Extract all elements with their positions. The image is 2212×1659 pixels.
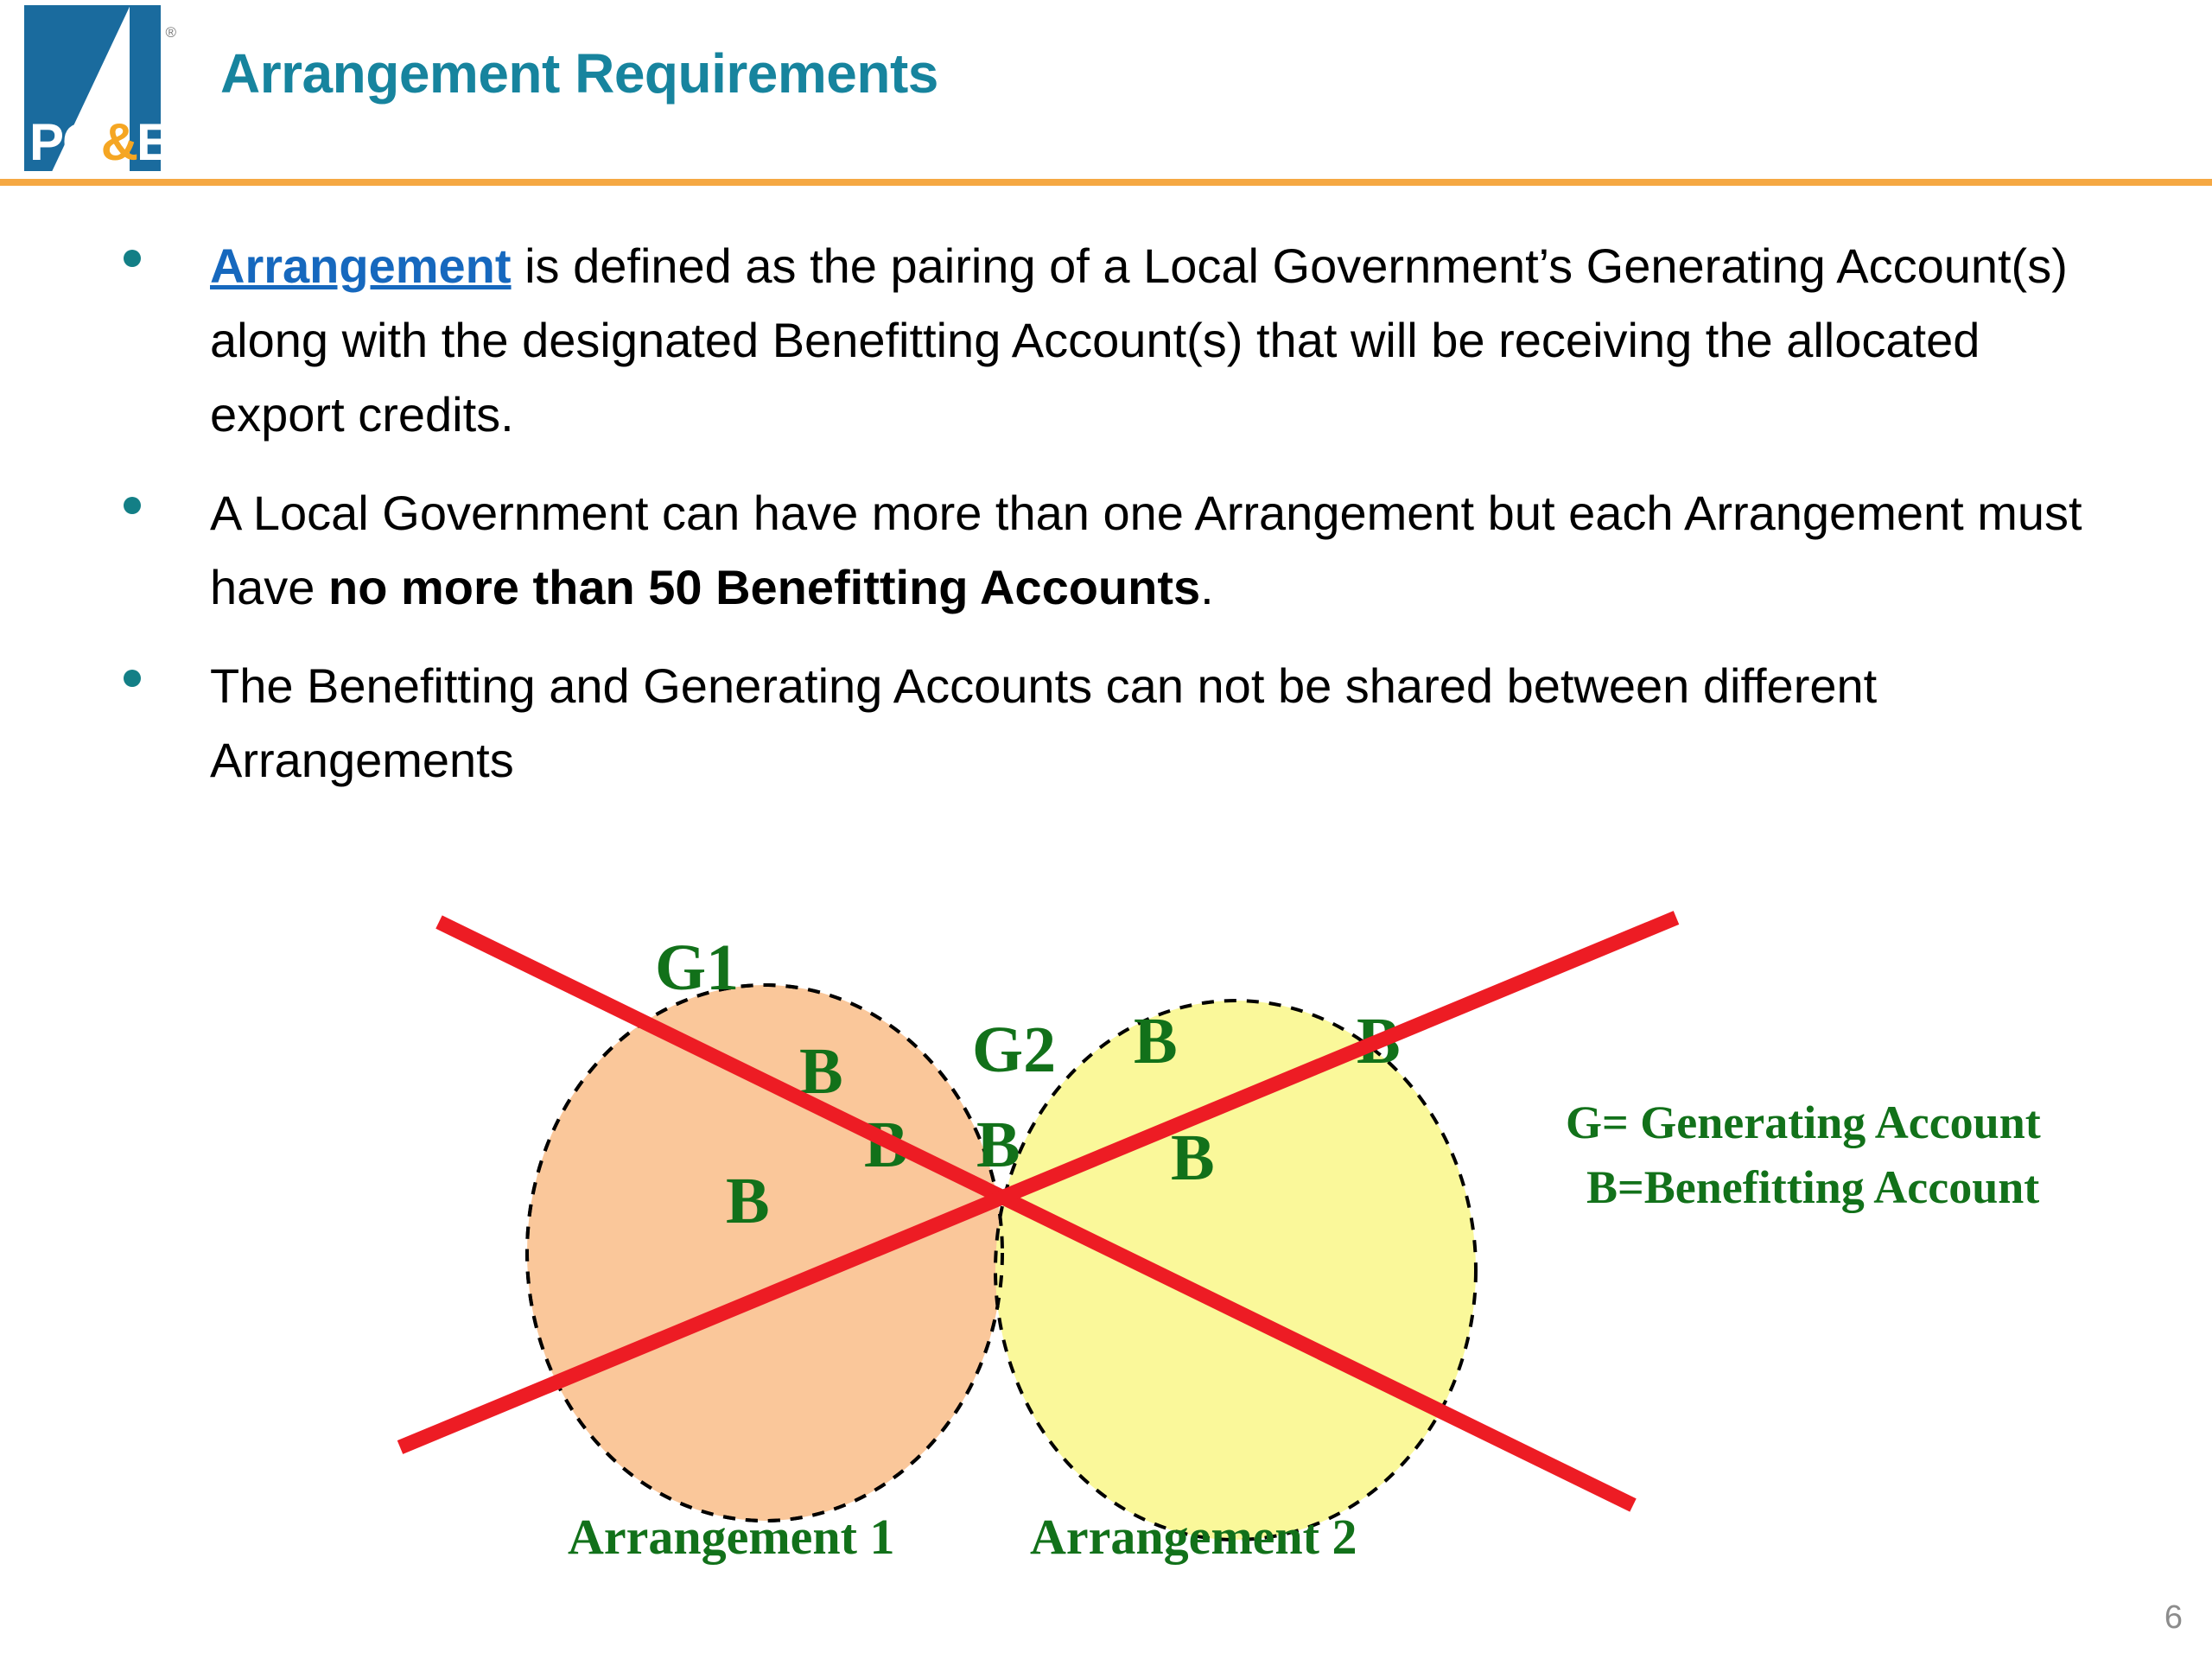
- bullet-dot-icon: [124, 670, 141, 687]
- bullet-2-post: .: [1200, 560, 1214, 614]
- bullet-dot-icon: [124, 497, 141, 514]
- bullet-3-text: The Benefitting and Generating Accounts …: [210, 649, 2108, 798]
- bullet-list: Arrangement is defined as the pairing of…: [0, 229, 2212, 822]
- list-item: The Benefitting and Generating Accounts …: [0, 649, 2212, 798]
- venn-node-g1: G1: [655, 931, 739, 1004]
- arrangement-2-label: Arrangement 2: [1030, 1508, 1357, 1566]
- bullet-2-emphasis: no more than 50 Benefitting Accounts: [328, 560, 1200, 614]
- page-number: 6: [2164, 1599, 2183, 1637]
- logo-ampersand: &: [101, 113, 137, 171]
- venn-node-b-a2-1: B: [1134, 1005, 1178, 1077]
- bullet-dot-icon: [124, 250, 141, 267]
- legend-generating: G= Generating Account: [1566, 1096, 2041, 1149]
- venn-node-b-a1-3: B: [726, 1165, 770, 1237]
- arrangement-1-label: Arrangement 1: [568, 1508, 895, 1566]
- header-divider: [0, 179, 2212, 186]
- arrangement-link[interactable]: Arrangement: [210, 238, 512, 293]
- registered-trademark-icon: ®: [165, 24, 176, 41]
- logo-background: PG&E: [24, 5, 161, 171]
- slide-header: PG&E ® Arrangement Requirements: [0, 0, 2212, 183]
- legend-benefitting: B=Benefitting Account: [1586, 1160, 2039, 1214]
- bullet-1-text: Arrangement is defined as the pairing of…: [210, 229, 2108, 452]
- list-item: A Local Government can have more than on…: [0, 476, 2212, 625]
- arrangement-1-circle: [527, 985, 1002, 1521]
- list-item: Arrangement is defined as the pairing of…: [0, 229, 2212, 452]
- bullet-2-text: A Local Government can have more than on…: [210, 476, 2108, 625]
- arrangement-2-circle: [995, 1001, 1476, 1540]
- venn-node-g2: G2: [972, 1014, 1056, 1086]
- pge-logo: PG&E ®: [24, 5, 161, 171]
- logo-wordmark: PG&E: [24, 118, 161, 168]
- venn-node-b-a2-3: B: [976, 1109, 1020, 1181]
- page-title: Arrangement Requirements: [220, 41, 938, 105]
